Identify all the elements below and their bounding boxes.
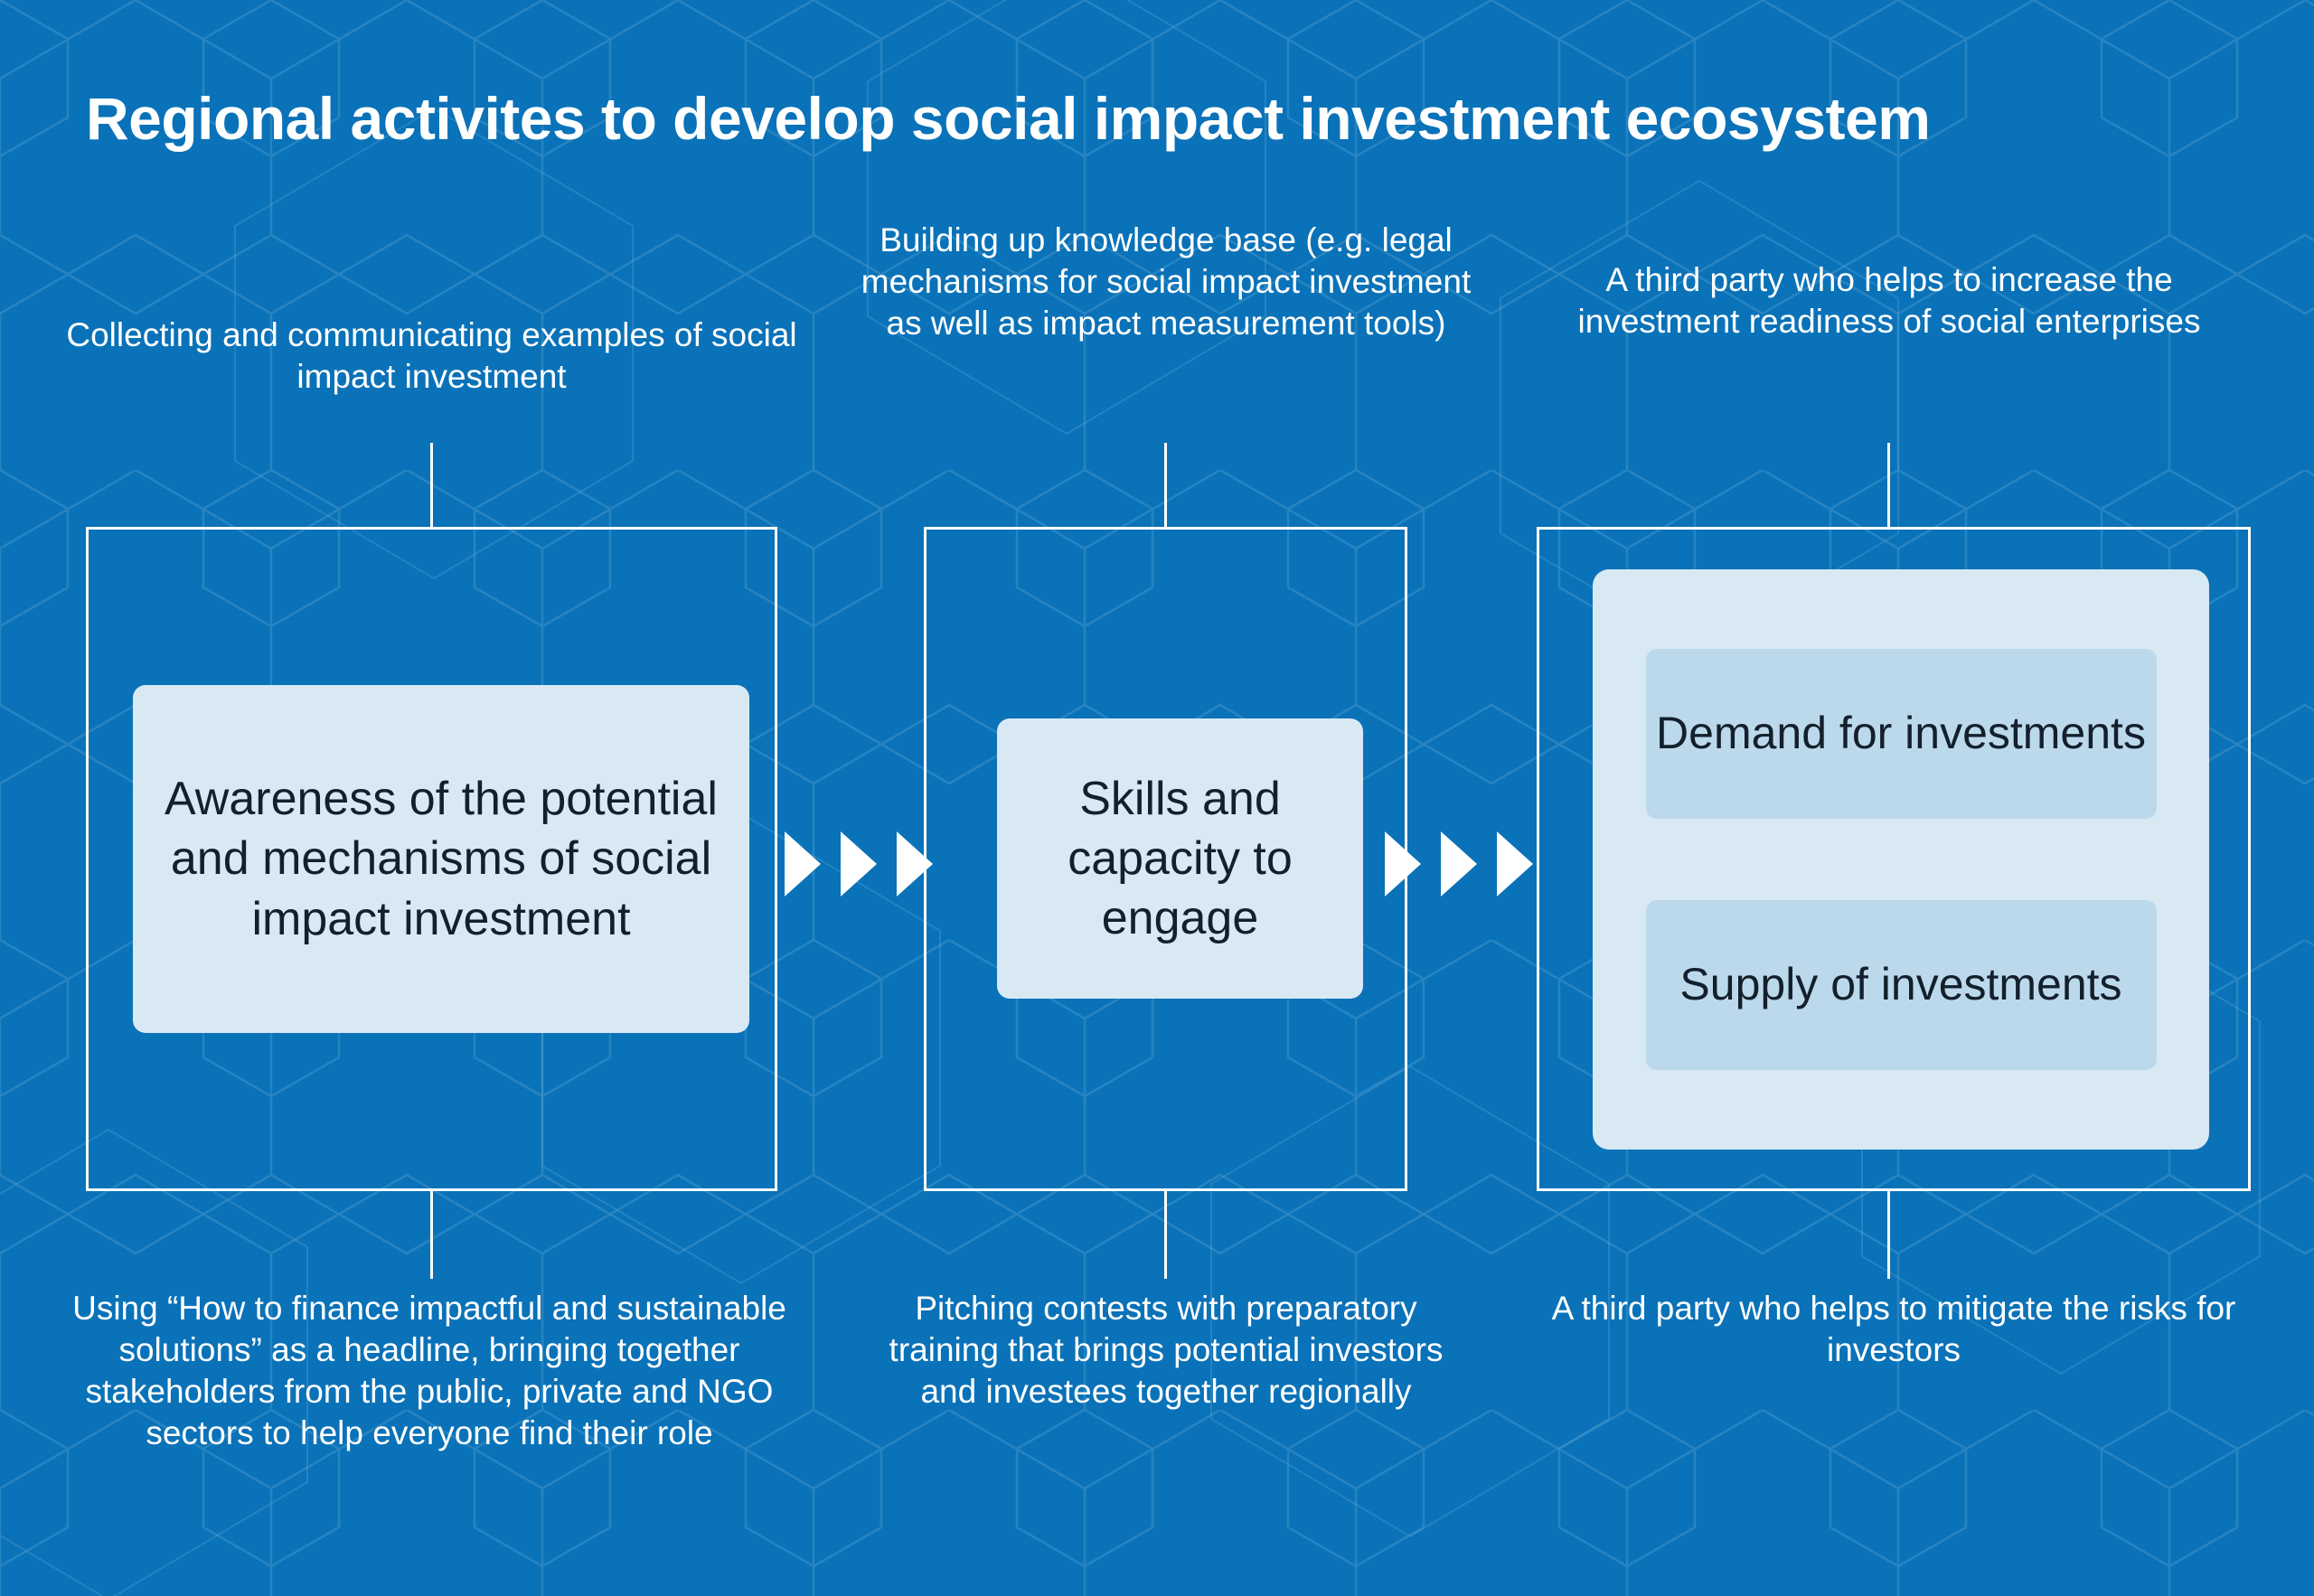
arrow-group-2: [1385, 831, 1533, 897]
connector-stem-bottom-awareness: [430, 1188, 433, 1279]
triangle-right-icon: [785, 831, 821, 897]
page-title: Regional activites to develop social imp…: [86, 86, 2255, 152]
caption-bottom-awareness: Using “How to finance impactful and sust…: [54, 1288, 804, 1454]
arrow-group-1: [785, 831, 933, 897]
caption-top-skills: Building up knowledge base (e.g. legal m…: [854, 220, 1478, 344]
card-ecosystem[interactable]: Demand for investments Supply of investm…: [1593, 569, 2209, 1150]
triangle-right-icon: [1497, 831, 1533, 897]
triangle-right-icon: [841, 831, 877, 897]
infographic-canvas: Regional activites to develop social imp…: [0, 0, 2314, 1596]
connector-stem-top-skills: [1164, 443, 1167, 530]
connector-stem-bottom-skills: [1164, 1188, 1167, 1279]
connector-stem-top-awareness: [430, 443, 433, 530]
card-skills[interactable]: Skills and capacity to engage: [997, 718, 1363, 999]
connector-stem-bottom-ecosystem: [1887, 1188, 1890, 1279]
caption-bottom-ecosystem: A third party who helps to mitigate the …: [1537, 1288, 2251, 1371]
card-awareness[interactable]: Awareness of the potential and mechanism…: [133, 685, 749, 1033]
connector-stem-top-ecosystem: [1887, 443, 1890, 530]
triangle-right-icon: [1441, 831, 1477, 897]
subcard-supply[interactable]: Supply of investments: [1646, 900, 2157, 1070]
caption-top-awareness: Collecting and communicating examples of…: [50, 315, 814, 398]
subcard-demand[interactable]: Demand for investments: [1646, 649, 2157, 819]
caption-bottom-skills: Pitching contests with preparatory train…: [886, 1288, 1446, 1413]
caption-top-ecosystem: A third party who helps to increase the …: [1537, 259, 2242, 343]
triangle-right-icon: [1385, 831, 1421, 897]
